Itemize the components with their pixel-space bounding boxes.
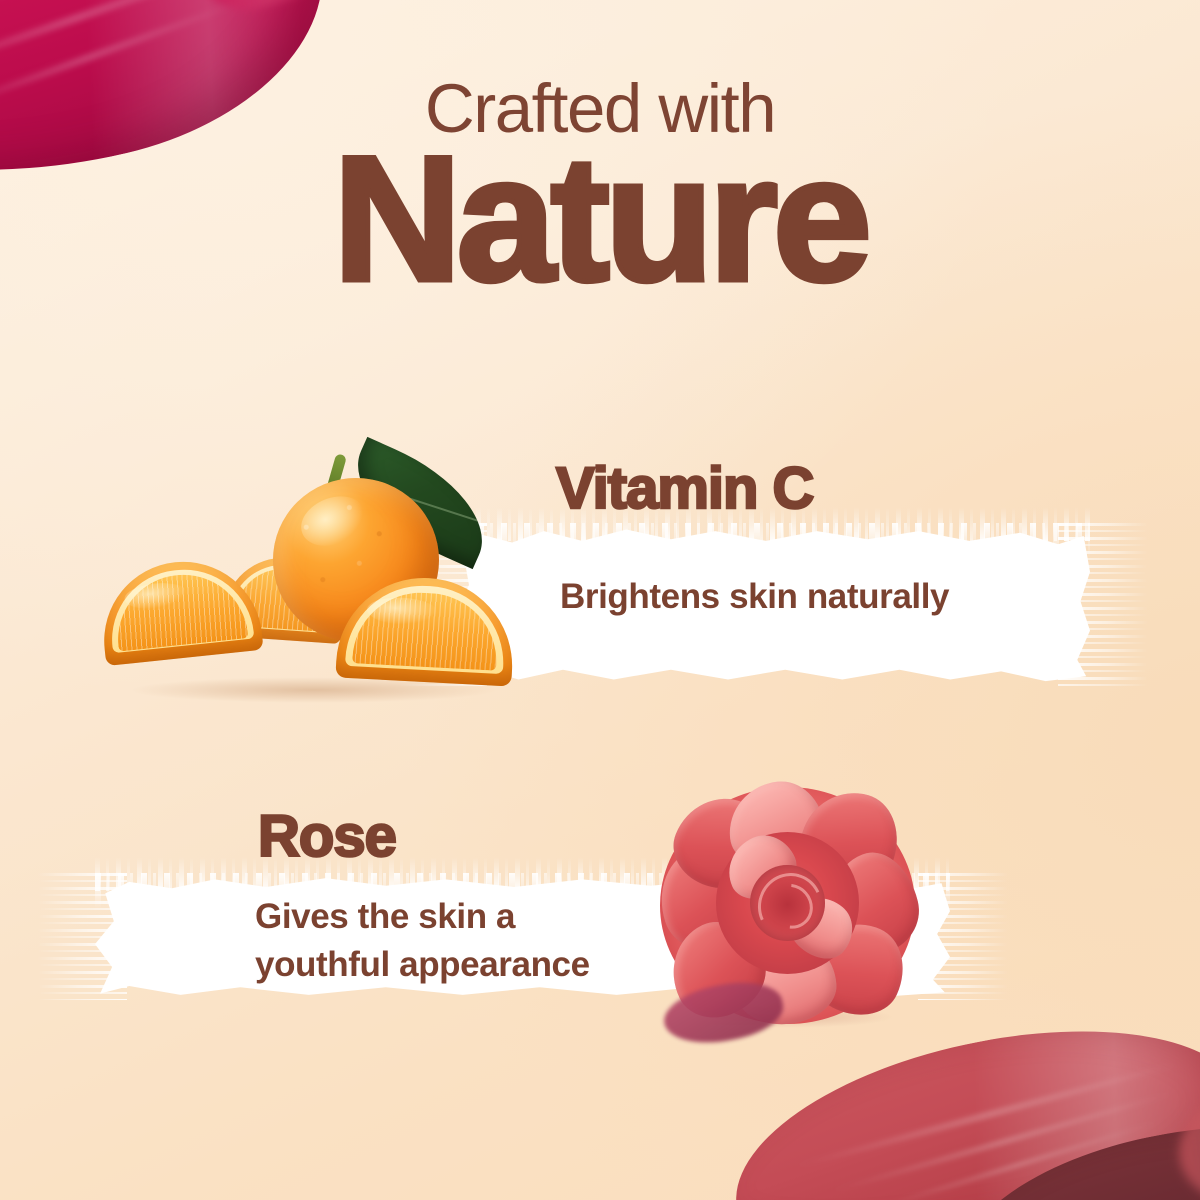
poster-canvas: Crafted with Nature (0, 0, 1200, 1200)
rose-description-line-2: youthful appearance (255, 941, 685, 989)
vitamin-c-description: Brightens skin naturally (560, 573, 949, 621)
orange-wedge-right (335, 573, 516, 686)
orange-wedge-left (96, 554, 263, 666)
orange-fruit-image (95, 440, 525, 705)
vitamin-c-title: Vitamin C (556, 460, 813, 518)
headline-line-2: Nature (0, 137, 1200, 301)
brush-fray-bottom (455, 523, 1090, 559)
headline-block: Crafted with Nature (0, 74, 1200, 301)
rose-description-line-1: Gives the skin a (255, 893, 685, 941)
rose-description: Gives the skin a youthful appearance (255, 893, 685, 990)
rose-title: Rose (258, 808, 396, 866)
